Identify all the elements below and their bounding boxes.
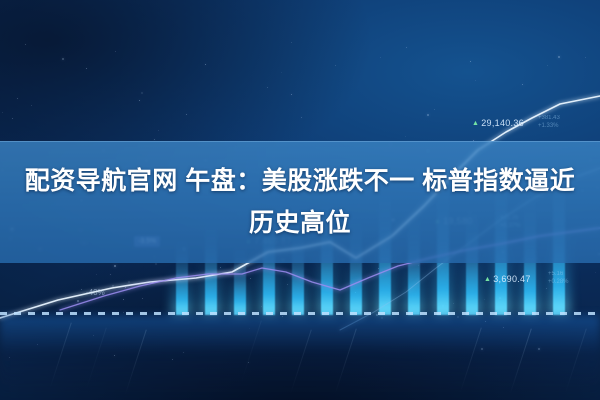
up-arrow-icon: ▲: [484, 276, 491, 283]
reflection-streak: [289, 330, 312, 397]
quote-change-pct: +0.28%: [548, 278, 569, 286]
headline-text: 配资导航官网 午盘：美股涨跌不一 标普指数逼近历史高位: [0, 141, 600, 263]
quote-value-q4: ▲3,690.47: [484, 274, 531, 284]
reflection-streaks: [0, 315, 600, 400]
news-banner-image: ▲29,140.36▲19,580▲7,465.87▲3,690.47+381.…: [0, 0, 600, 400]
quote-change-abs: +5.16: [548, 270, 569, 278]
reflection-streak: [509, 328, 532, 395]
up-arrow-icon: ▲: [472, 120, 479, 127]
quote-change-pct: +1.33%: [538, 122, 560, 130]
reflection-streak: [124, 329, 147, 396]
reflection-streak: [49, 322, 72, 389]
reflection-streak: [564, 329, 587, 396]
quote-change-s2: +5.16+0.28%: [548, 270, 569, 286]
chart-baseline: [0, 312, 600, 315]
reflection-streak: [459, 327, 482, 394]
percent-label-p1: -40%: [86, 288, 105, 297]
quote-change-s1: +381.43+1.33%: [538, 114, 560, 130]
quote-change-abs: +381.43: [538, 114, 560, 122]
reflection-streak: [84, 327, 107, 394]
quote-value-q1: ▲29,140.36: [472, 118, 524, 128]
reflection-streak: [239, 321, 262, 388]
reflection-streak: [334, 329, 357, 396]
